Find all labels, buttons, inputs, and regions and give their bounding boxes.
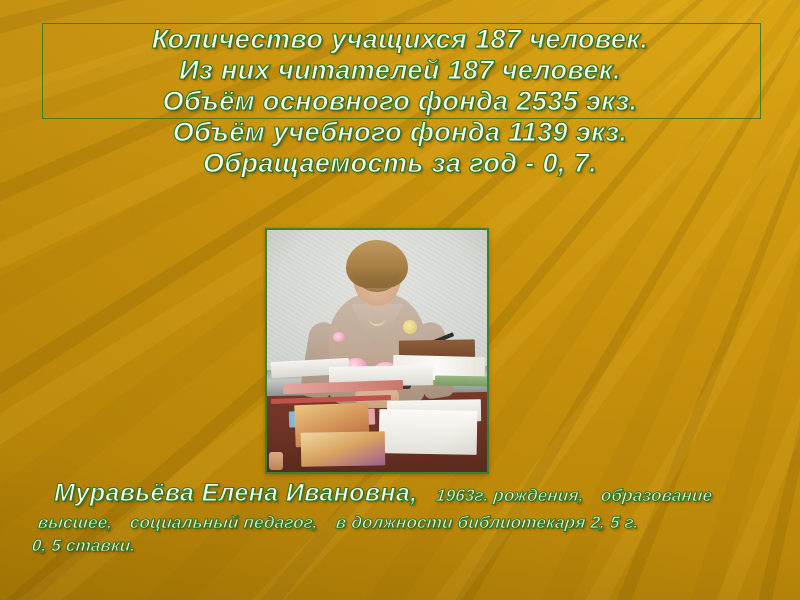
photo-desk-object <box>269 452 283 470</box>
presentation-slide: Количество учащихся 187 человек. Из них … <box>0 0 800 600</box>
photo-brooch <box>403 320 417 334</box>
photo-papers-right <box>379 409 478 455</box>
photo-magazine-two <box>301 431 386 466</box>
statistics-box-border <box>42 23 761 119</box>
photo-necklace <box>368 306 386 326</box>
photo-book-green <box>435 376 489 387</box>
photo-blouse-motif-small <box>333 332 345 342</box>
photo-hair <box>346 240 408 288</box>
librarian-photo <box>265 228 489 474</box>
